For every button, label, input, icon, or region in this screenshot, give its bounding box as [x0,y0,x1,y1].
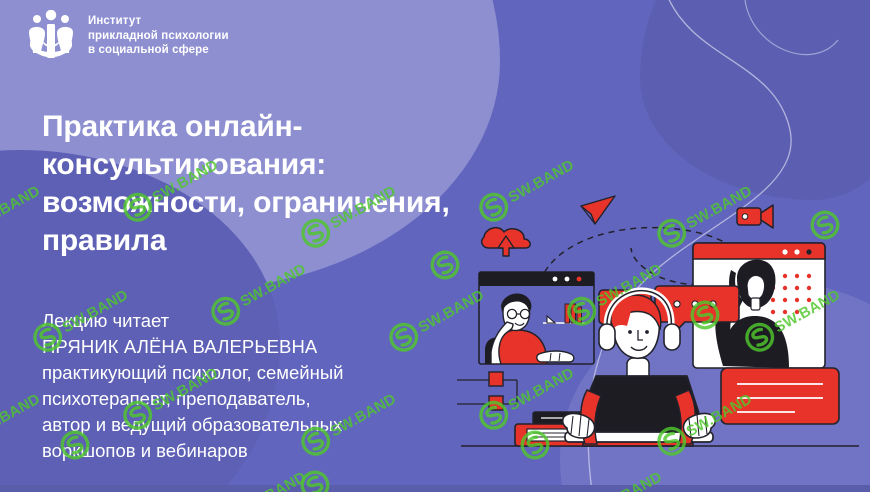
three-figures-logo-icon [26,10,76,62]
red-text-card [721,368,839,424]
brand-name-line-2: прикладной психологии [88,29,229,44]
lecturer-lead-label: Лекцию читает [42,308,462,334]
video-camera-icon [737,205,773,228]
video-call-window-left [479,272,594,364]
page-title-line-1: Практика онлайн-консультирования: [42,108,542,184]
background-blob-top-right [640,0,870,200]
paper-plane-icon [581,196,615,224]
flowchart-squares [457,372,517,410]
lecturer-name: ПРЯНИК АЛЁНА ВАЛЕРЬЕВНА [42,334,462,360]
presentation-slide: Институт прикладной психологии в социаль… [0,0,870,492]
person-left-window [485,294,585,364]
brand-name-line-3: в социальной сфере [88,43,229,58]
brand-header: Институт прикладной психологии в социаль… [26,10,229,62]
online-consultation-illustration [455,190,870,492]
lecturer-description-line-3: автор и ведущий образовательных [42,412,462,438]
lecturer-description-line-1: практикующий психолог, семейный [42,360,462,386]
cloud-upload-icon [482,228,530,256]
lecturer-description-line-4: воркшопов и вебинаров [42,438,462,464]
brand-name: Институт прикладной психологии в социаль… [88,14,229,58]
brand-name-line-1: Институт [88,14,229,29]
lecturer-description-line-2: психотерапевт, преподаватель, [42,386,462,412]
lecturer-block: Лекцию читает ПРЯНИК АЛЁНА ВАЛЕРЬЕВНА пр… [42,308,462,464]
